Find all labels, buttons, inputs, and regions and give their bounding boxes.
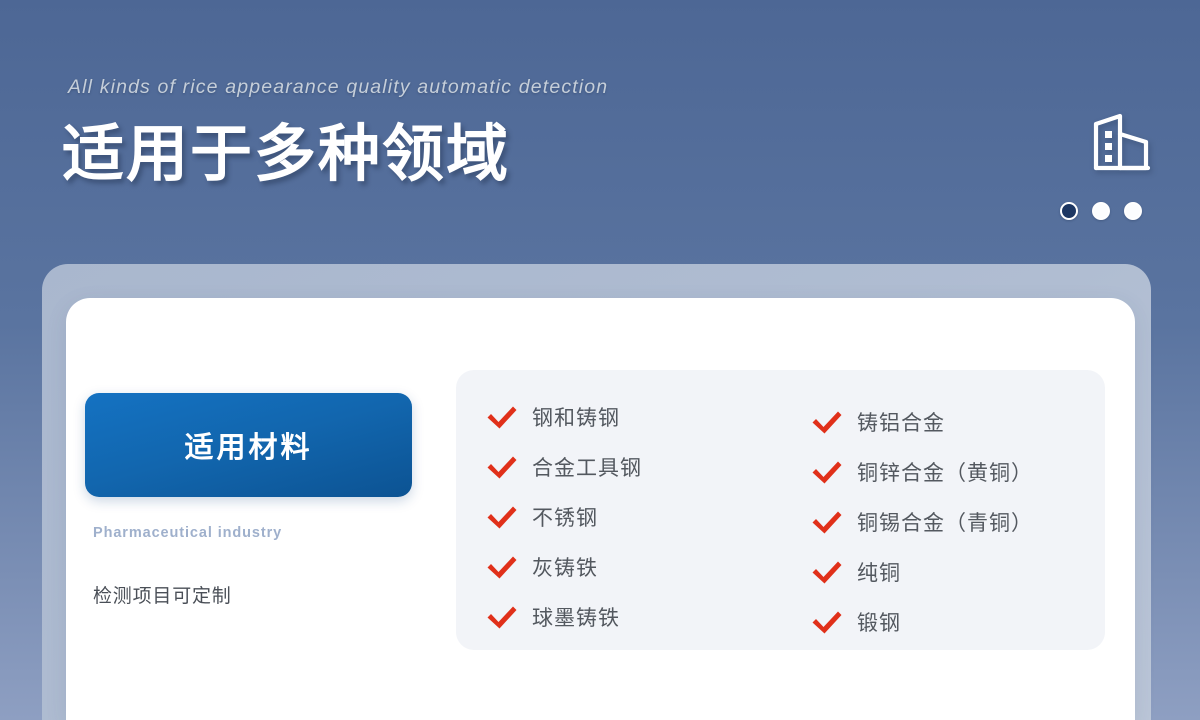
material-name: 钢和铸钢	[532, 402, 620, 432]
carousel-dot-1[interactable]	[1060, 202, 1078, 220]
material-name: 合金工具钢	[532, 452, 642, 482]
material-name: 球墨铸铁	[532, 602, 620, 632]
red-checkmark-icon	[486, 604, 518, 630]
carousel-pagination[interactable]	[1060, 201, 1148, 221]
hero-header: All kinds of rice appearance quality aut…	[0, 0, 1200, 262]
materials-right-column: 铸铝合金 铜锌合金（黄铜） 铜锡合金（青铜） 纯铜 锻钢	[811, 397, 1033, 647]
red-checkmark-icon	[811, 609, 843, 635]
material-name: 锻钢	[857, 607, 901, 637]
materials-left-column: 钢和铸钢 合金工具钢 不锈钢 灰铸铁 球墨铸铁	[486, 392, 642, 642]
list-item: 球墨铸铁	[486, 592, 642, 642]
red-checkmark-icon	[486, 454, 518, 480]
building-factory-icon	[1090, 112, 1154, 174]
red-checkmark-icon	[811, 459, 843, 485]
material-name: 铜锌合金（黄铜）	[857, 457, 1033, 487]
list-item: 钢和铸钢	[486, 392, 642, 442]
material-name: 铜锡合金（青铜）	[857, 507, 1033, 537]
list-item: 合金工具钢	[486, 442, 642, 492]
list-item: 灰铸铁	[486, 542, 642, 592]
applicable-materials-button[interactable]: 适用材料	[85, 393, 412, 497]
page-title: 适用于多种领域	[62, 122, 510, 187]
red-checkmark-icon	[486, 504, 518, 530]
customizable-items-note: 检测项目可定制	[93, 581, 232, 608]
red-checkmark-icon	[486, 404, 518, 430]
list-item: 铸铝合金	[811, 397, 1033, 447]
material-name: 灰铸铁	[532, 552, 598, 582]
carousel-dot-3[interactable]	[1124, 202, 1142, 220]
material-name: 铸铝合金	[857, 407, 945, 437]
red-checkmark-icon	[811, 409, 843, 435]
list-item: 不锈钢	[486, 492, 642, 542]
industry-subtitle: Pharmaceutical industry	[93, 525, 282, 541]
hero-subtitle: All kinds of rice appearance quality aut…	[68, 76, 608, 99]
list-item: 铜锡合金（青铜）	[811, 497, 1033, 547]
red-checkmark-icon	[811, 559, 843, 585]
material-name: 不锈钢	[532, 502, 598, 532]
list-item: 锻钢	[811, 597, 1033, 647]
red-checkmark-icon	[486, 554, 518, 580]
carousel-dot-2[interactable]	[1092, 202, 1110, 220]
materials-list-panel: 钢和铸钢 合金工具钢 不锈钢 灰铸铁 球墨铸铁	[456, 370, 1105, 650]
red-checkmark-icon	[811, 509, 843, 535]
list-item: 铜锌合金（黄铜）	[811, 447, 1033, 497]
material-name: 纯铜	[857, 557, 901, 587]
list-item: 纯铜	[811, 547, 1033, 597]
